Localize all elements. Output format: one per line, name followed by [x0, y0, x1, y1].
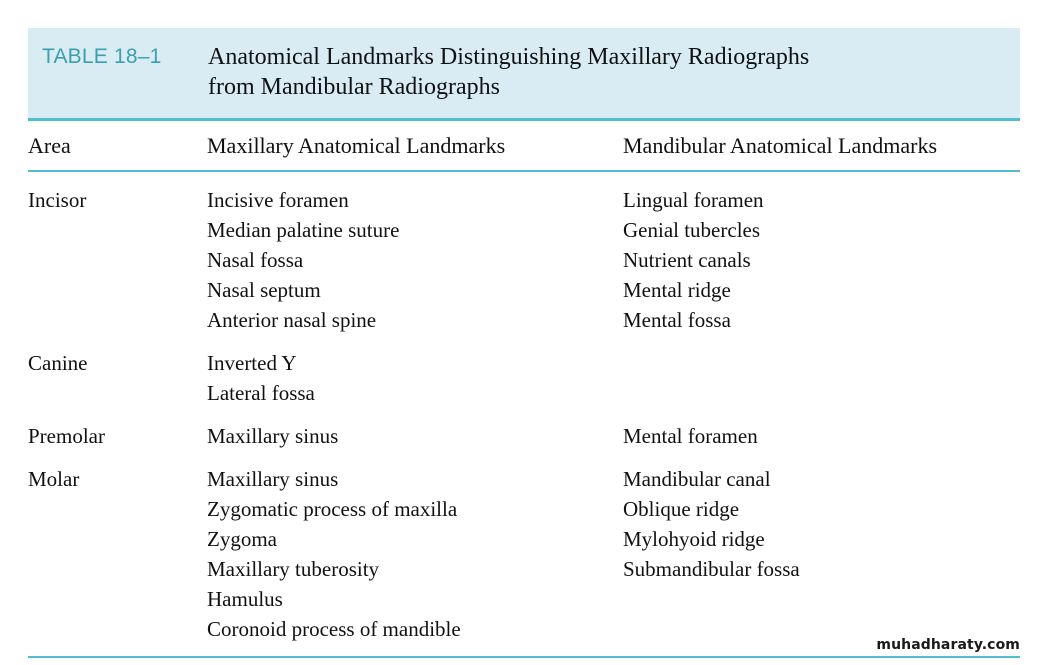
table-container: TABLE 18–1 Anatomical Landmarks Distingu…	[28, 28, 1020, 658]
table-row: Premolar Maxillary sinus Mental foramen	[28, 421, 1020, 464]
table-row: Molar Maxillary sinus Zygomatic process …	[28, 464, 1020, 644]
row-area-label: Canine	[28, 348, 207, 378]
landmark-item: Mental ridge	[623, 275, 1020, 305]
landmark-item: Anterior nasal spine	[207, 305, 623, 335]
table-bottom-rule	[28, 656, 1020, 658]
landmark-item: Zygomatic process of maxilla	[207, 494, 623, 524]
landmark-item: Median palatine suture	[207, 215, 623, 245]
landmark-item: Inverted Y	[207, 348, 623, 378]
landmark-item: Genial tubercles	[623, 215, 1020, 245]
landmark-item: Nasal septum	[207, 275, 623, 305]
landmark-item: Incisive foramen	[207, 185, 623, 215]
landmark-item: Nasal fossa	[207, 245, 623, 275]
row-area-label: Molar	[28, 464, 207, 494]
table-caption-band: TABLE 18–1 Anatomical Landmarks Distingu…	[28, 28, 1020, 118]
landmark-item: Maxillary sinus	[207, 421, 623, 451]
row-area-label: Incisor	[28, 185, 207, 215]
table-body: Incisor Incisive foramen Median palatine…	[28, 172, 1020, 644]
landmark-item: Mental foramen	[623, 421, 1020, 451]
column-header-maxillary: Maxillary Anatomical Landmarks	[207, 132, 623, 160]
landmark-item: Zygoma	[207, 524, 623, 554]
site-watermark: muhadharaty.com	[876, 637, 1020, 653]
landmark-item: Lateral fossa	[207, 378, 623, 408]
table-title: Anatomical Landmarks Distinguishing Maxi…	[208, 42, 1020, 102]
landmark-item: Coronoid process of mandible	[207, 614, 623, 644]
landmark-item: Mylohyoid ridge	[623, 524, 1020, 554]
table-row: Canine Inverted Y Lateral fossa	[28, 348, 1020, 421]
table-title-line-1: Anatomical Landmarks Distinguishing Maxi…	[208, 42, 1004, 72]
row-area-label: Premolar	[28, 421, 207, 451]
row-mandibular-cell: Mandibular canal Oblique ridge Mylohyoid…	[623, 464, 1020, 584]
landmark-item: Submandibular fossa	[623, 554, 1020, 584]
row-maxillary-cell: Maxillary sinus Zygomatic process of max…	[207, 464, 623, 644]
row-maxillary-cell: Inverted Y Lateral fossa	[207, 348, 623, 408]
row-maxillary-cell: Maxillary sinus	[207, 421, 623, 451]
row-maxillary-cell: Incisive foramen Median palatine suture …	[207, 185, 623, 335]
table-header-row: Area Maxillary Anatomical Landmarks Mand…	[28, 121, 1020, 170]
row-mandibular-cell: Mental foramen	[623, 421, 1020, 451]
row-mandibular-cell: Lingual foramen Genial tubercles Nutrien…	[623, 185, 1020, 335]
landmark-item: Lingual foramen	[623, 185, 1020, 215]
landmark-item: Maxillary tuberosity	[207, 554, 623, 584]
table-bottom-rule-wrap	[28, 644, 1020, 658]
landmark-item: Hamulus	[207, 584, 623, 614]
column-header-mandibular: Mandibular Anatomical Landmarks	[623, 132, 1020, 160]
landmark-item: Oblique ridge	[623, 494, 1020, 524]
table-number-label: TABLE 18–1	[28, 42, 208, 72]
column-header-area: Area	[28, 132, 207, 160]
table-title-line-2: from Mandibular Radiographs	[208, 72, 1004, 102]
landmark-item: Mental fossa	[623, 305, 1020, 335]
landmark-item: Maxillary sinus	[207, 464, 623, 494]
landmark-item: Mandibular canal	[623, 464, 1020, 494]
landmark-item: Nutrient canals	[623, 245, 1020, 275]
table-row: Incisor Incisive foramen Median palatine…	[28, 185, 1020, 348]
